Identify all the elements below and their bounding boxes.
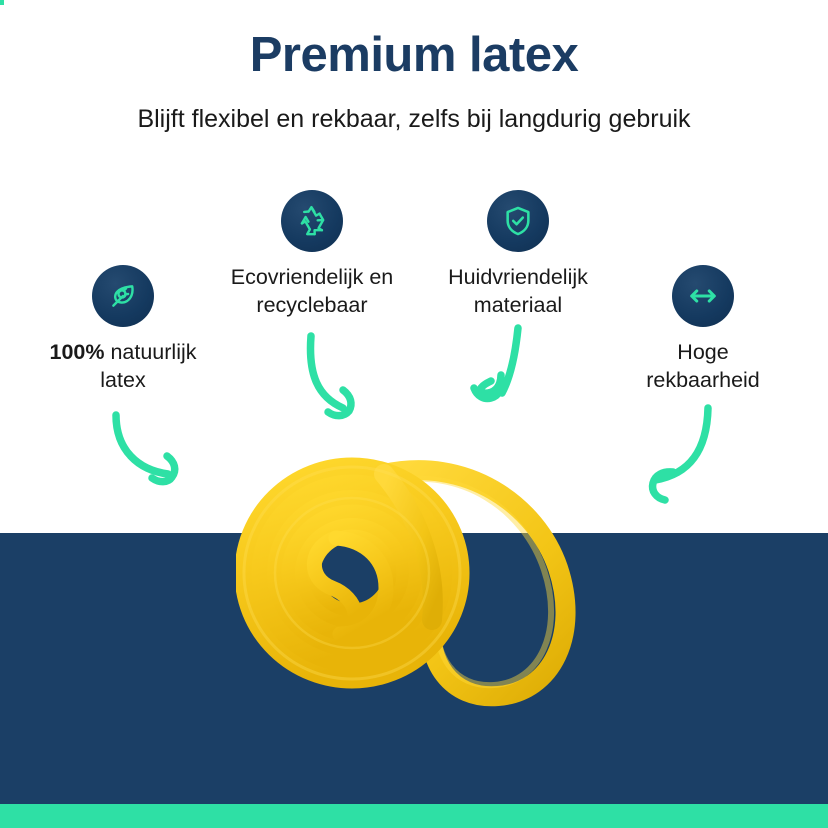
feature-label: 100% natuurlijklatex (32, 338, 214, 395)
leaf-icon (106, 279, 140, 313)
feature-badge (92, 265, 154, 327)
feature-item-natural-latex: 100% natuurlijklatex (32, 265, 214, 395)
feature-label-bold: 100% (49, 340, 104, 364)
feature-item-skin-friendly: Huidvriendelijkmateriaal (428, 190, 608, 320)
feature-item-eco-recyclable: Ecovriendelijk enrecyclebaar (222, 190, 402, 320)
feature-label-line2: latex (100, 368, 145, 392)
feature-label: Hogerekbaarheid (614, 338, 792, 395)
shield-check-icon (501, 204, 535, 238)
feature-badge (281, 190, 343, 252)
curved-arrow-0 (116, 415, 175, 482)
arrows-horizontal-icon (686, 279, 720, 313)
feature-badge (487, 190, 549, 252)
feature-item-high-stretch: Hogerekbaarheid (614, 265, 792, 395)
page-subtitle: Blijft flexibel en rekbaar, zelfs bij la… (0, 105, 828, 134)
curved-arrow-3 (653, 408, 708, 500)
feature-label: Ecovriendelijk enrecyclebaar (222, 263, 402, 320)
curved-arrow-2 (474, 328, 518, 399)
feature-label-line2: materiaal (474, 293, 562, 317)
feature-label: Huidvriendelijkmateriaal (428, 263, 608, 320)
recycle-icon (295, 204, 329, 238)
product-image-resistance-band (236, 438, 602, 720)
teal-corner-mark (0, 0, 4, 5)
feature-label-line1: Huidvriendelijk (448, 265, 588, 289)
infographic-canvas: Premium latex Blijft flexibel en rekbaar… (0, 0, 828, 828)
feature-label-line1: Ecovriendelijk en (231, 265, 394, 289)
feature-label-rest: natuurlijk (104, 340, 196, 364)
feature-label-line1: Hoge (677, 340, 728, 364)
feature-label-line2: rekbaarheid (646, 368, 760, 392)
page-title: Premium latex (0, 27, 828, 83)
feature-badge (672, 265, 734, 327)
curved-arrow-1 (310, 336, 351, 416)
feature-label-line2: recyclebaar (256, 293, 367, 317)
teal-accent-strip (0, 804, 828, 828)
